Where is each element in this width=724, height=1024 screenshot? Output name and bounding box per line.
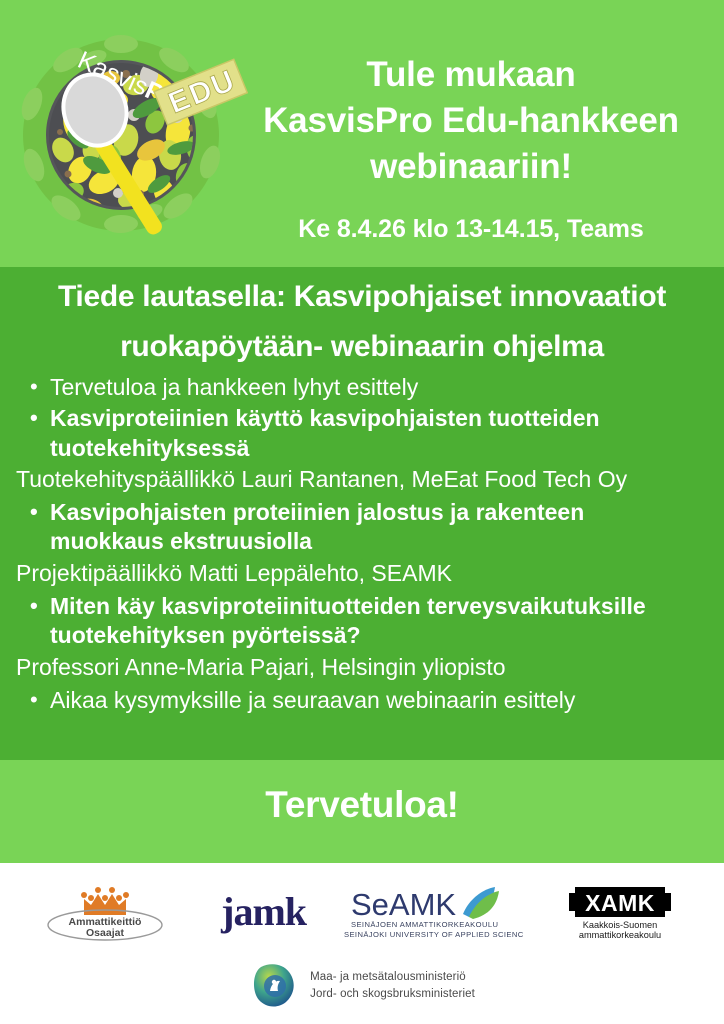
seamk-logo: SeAMK SEINÄJOEN AMMATTIKORKEAKOULU SEINÄ… — [343, 881, 523, 943]
agenda-speaker: Projektipäällikkö Matti Leppälehto, SEAM… — [14, 559, 710, 589]
maa-ja-metsatalousministerio-logo: Maa- ja metsätalousministeriö Jord- och … — [249, 960, 475, 1012]
agenda-item-line: Miten käy kasviproteiinituotteiden terve… — [50, 592, 708, 621]
agenda-item: Kasviproteiinien käyttö kasvipohjaisten … — [14, 404, 710, 463]
agenda-item: Tervetuloa ja hankkeen lyhyt esittely — [14, 373, 710, 402]
seamk-wordmark: SeAMK — [351, 887, 456, 922]
welcome-section: Tervetuloa! — [0, 760, 724, 863]
ministry-line1: Maa- ja metsätalousministeriö — [310, 969, 475, 986]
agenda-item-line: Kasviproteiinien käyttö kasvipohjaisten … — [50, 404, 708, 433]
agenda-list: Tervetuloa ja hankkeen lyhyt esittely Ka… — [0, 373, 724, 715]
akeit-line2: Osaajat — [86, 927, 124, 939]
xamk-logo: XAMK Kaakkois-Suomen ammattikorkeakoulu — [560, 881, 680, 943]
ammattikeittio-osaajat-logo: Ammattikeittiö Osaajat — [44, 881, 184, 943]
seamk-line1: SEINÄJOEN AMMATTIKORKEAKOULU — [351, 920, 498, 929]
hero-title-line3: webinaariin! — [236, 144, 706, 190]
seamk-line2: SEINÄJOKI UNIVERSITY OF APPLIED SCIENCES — [344, 930, 523, 939]
agenda-item-line: Kasvipohjaisten proteiinien jalostus ja … — [50, 498, 708, 527]
xamk-line1: Kaakkois-Suomen — [582, 920, 657, 930]
ministry-line2: Jord- och skogsbruksministeriet — [310, 986, 475, 1003]
xamk-block-icon: XAMK — [569, 887, 671, 917]
ministry-emblem-icon — [249, 960, 301, 1012]
hero-title-line2: KasvisPro Edu-hankkeen — [236, 98, 706, 144]
footer-section: Ammattikeittiö Osaajat jamk SeAMK SEINÄJ… — [0, 863, 724, 1024]
ministry-name: Maa- ja metsätalousministeriö Jord- och … — [310, 969, 475, 1002]
agenda-item-line: muokkaus ekstruusiolla — [50, 527, 708, 556]
agenda-item: Kasvipohjaisten proteiinien jalostus ja … — [14, 498, 710, 557]
poster: KasvisPro EDU Tule mukaan KasvisPro Edu-… — [0, 0, 724, 1024]
partner-logo-row-1: Ammattikeittiö Osaajat jamk SeAMK SEINÄJ… — [0, 873, 724, 951]
xamk-wordmark: XAMK — [585, 890, 655, 916]
partner-logo-row-2: Maa- ja metsätalousministeriö Jord- och … — [0, 955, 724, 1017]
program-title-line1: Tiede lautasella: Kasvipohjaiset innovaa… — [0, 267, 724, 317]
agenda-item-line: tuotekehityksessä — [50, 434, 708, 463]
hero-section: KasvisPro EDU Tule mukaan KasvisPro Edu-… — [0, 0, 724, 267]
kasvispro-logo-icon: KasvisPro EDU — [18, 22, 248, 237]
seamk-leaf-icon — [463, 887, 499, 919]
hero-title-block: Tule mukaan KasvisPro Edu-hankkeen webin… — [236, 52, 706, 191]
program-section: Tiede lautasella: Kasvipohjaiset innovaa… — [0, 267, 724, 760]
agenda-item: Aikaa kysymyksille ja seuraavan webinaar… — [14, 686, 710, 715]
hero-title-line1: Tule mukaan — [236, 52, 706, 98]
agenda-speaker: Professori Anne-Maria Pajari, Helsingin … — [14, 653, 710, 683]
kasvispro-edu-logo: KasvisPro EDU — [18, 22, 248, 237]
webinar-datetime: Ke 8.4.26 klo 13-14.15, Teams — [236, 215, 706, 244]
welcome-text: Tervetuloa! — [0, 784, 724, 826]
xamk-line2: ammattikorkeakoulu — [578, 930, 660, 940]
agenda-item-line: tuotekehityksen pyörteissä? — [50, 621, 708, 650]
program-title-line2: ruokapöytään- webinaarin ohjelma — [0, 317, 724, 367]
agenda-item: Miten käy kasviproteiinituotteiden terve… — [14, 592, 710, 651]
agenda-speaker: Tuotekehityspäällikkö Lauri Rantanen, Me… — [14, 465, 710, 495]
jamk-logo: jamk — [221, 892, 306, 932]
